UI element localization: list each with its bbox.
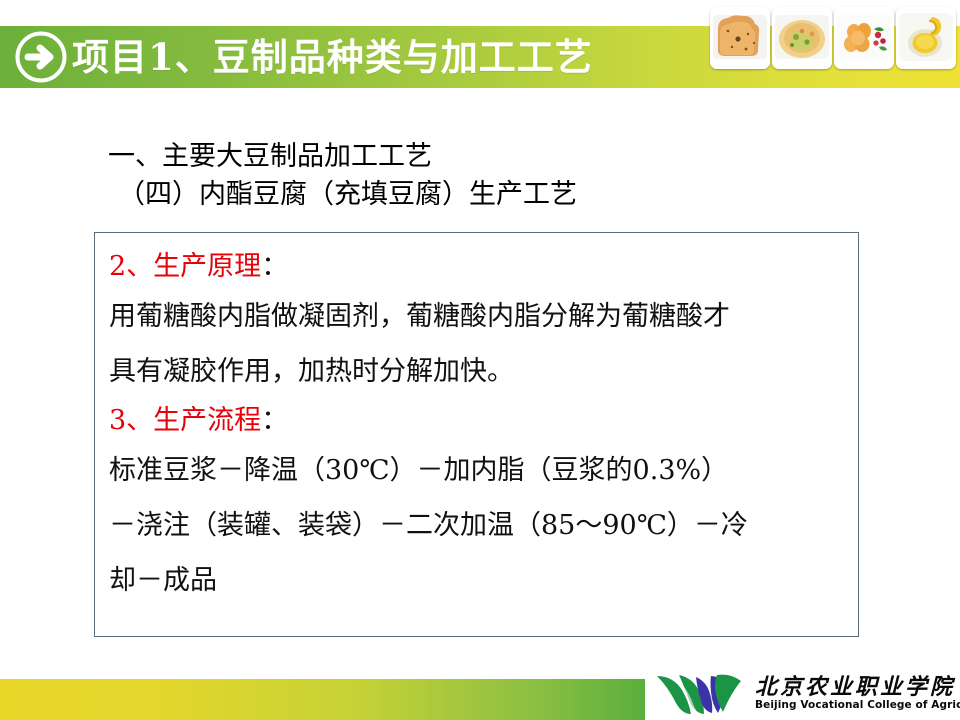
logo-name-cn: 北京农业职业学院 xyxy=(755,675,960,699)
section-heading-text: 2、生产原理 xyxy=(109,251,261,282)
body-line: －浇注（装罐、装袋）－二次加温（85～90℃）－冷 xyxy=(109,498,842,553)
circle-arrow-right-icon xyxy=(15,31,67,83)
section-heading-colon: ： xyxy=(261,405,288,436)
thumbnail-fried-nuggets xyxy=(834,7,894,69)
thumbnail-bread-slice xyxy=(710,7,770,69)
institution-logo: 北京农业职业学院 Beijing Vocational College of A… xyxy=(655,668,955,718)
body-line: 却－成品 xyxy=(109,553,842,608)
section-heading-production-principle: 2、生产原理： xyxy=(109,245,842,289)
subtitle-line-2: （四）内酯豆腐（充填豆腐）生产工艺 xyxy=(108,176,868,214)
section-heading-text: 3、生产流程 xyxy=(109,405,261,436)
subtitle-block: 一、主要大豆制品加工工艺 （四）内酯豆腐（充填豆腐）生产工艺 xyxy=(108,138,868,214)
thumbnail-strip xyxy=(710,7,958,69)
logo-text-block: 北京农业职业学院 Beijing Vocational College of A… xyxy=(755,675,960,712)
section-heading-production-flow: 3、生产流程： xyxy=(109,399,842,443)
subtitle-line-1: 一、主要大豆制品加工工艺 xyxy=(108,138,868,176)
logo-name-en: Beijing Vocational College of Agricultur… xyxy=(755,699,960,712)
section-heading-colon: ： xyxy=(261,251,288,282)
page-title: 项目1、豆制品种类与加工工艺 xyxy=(72,28,593,86)
body-line: 标准豆浆－降温（30℃）－加内脂（豆浆的0.3%） xyxy=(109,443,842,498)
thumbnail-yellow-sauce-bowl xyxy=(896,7,956,69)
w-logo-mark-icon xyxy=(655,670,747,716)
content-box: 2、生产原理： 用葡糖酸内脂做凝固剂，葡糖酸内脂分解为葡糖酸才 具有凝胶作用，加… xyxy=(94,232,859,637)
body-line: 具有凝胶作用，加热时分解加快。 xyxy=(109,344,842,399)
slide-canvas: 项目1、豆制品种类与加工工艺 xyxy=(0,0,960,720)
body-line: 用葡糖酸内脂做凝固剂，葡糖酸内脂分解为葡糖酸才 xyxy=(109,289,842,344)
thumbnail-stuffed-pastry xyxy=(772,7,832,69)
footer-bar xyxy=(0,679,645,720)
content-box-inner: 2、生产原理： 用葡糖酸内脂做凝固剂，葡糖酸内脂分解为葡糖酸才 具有凝胶作用，加… xyxy=(95,233,858,608)
